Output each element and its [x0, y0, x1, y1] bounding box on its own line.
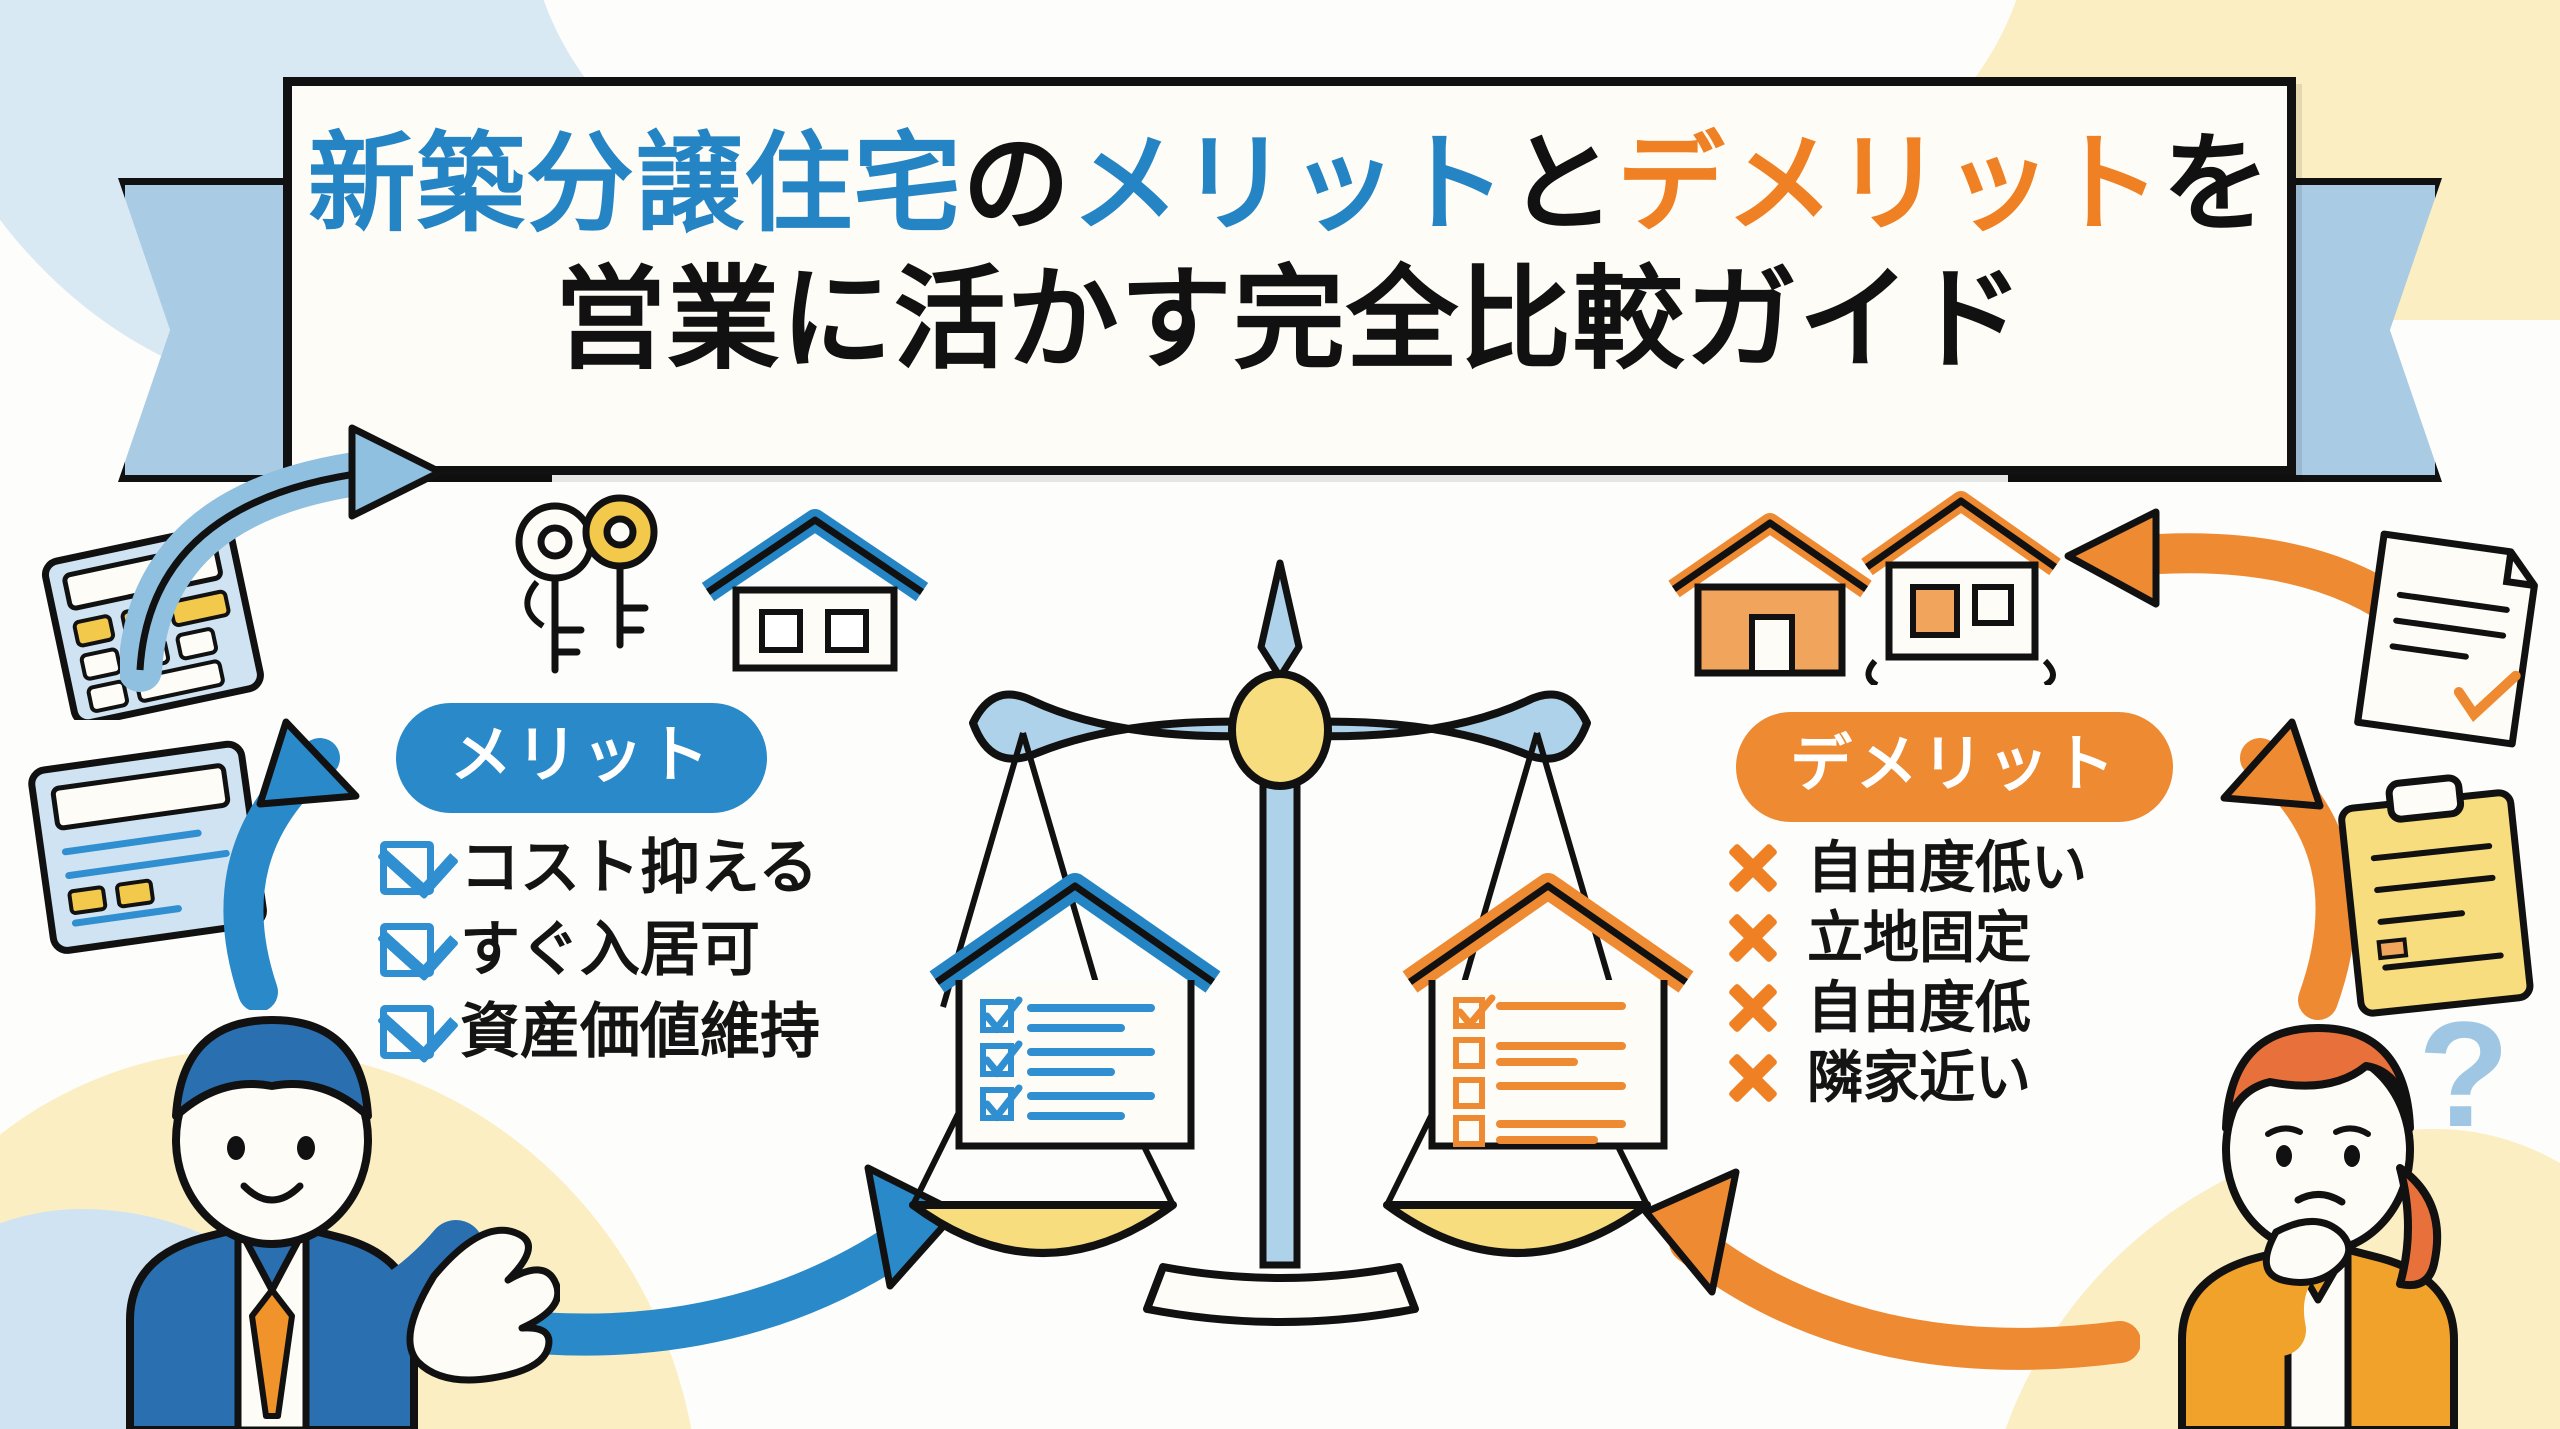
svg-text:?: ? — [2418, 1000, 2510, 1158]
cross-icon — [1725, 910, 1781, 966]
page-title-line-1: 新築分譲住宅のメリットとデメリットを — [292, 130, 2287, 238]
blue-house-checklist-icon — [925, 860, 1225, 1160]
demerit-item-label: 自由度低い — [1807, 840, 2087, 896]
demerit-item-3[interactable]: 自由度低 — [1725, 980, 2087, 1036]
title-seg-6: を — [2162, 123, 2271, 244]
demerit-item-2[interactable]: 立地固定 — [1725, 910, 2087, 966]
cross-icon — [1725, 980, 1781, 1036]
demerit-list: 自由度低い 立地固定 自由度低 隣家近い — [1725, 840, 2087, 1106]
cross-icon — [1725, 840, 1781, 896]
merit-item-label: すぐ入居可 — [460, 920, 760, 980]
merit-badge: メリット — [396, 703, 767, 813]
demerit-item-4[interactable]: 隣家近い — [1725, 1050, 2087, 1106]
orange-house-checklist-icon — [1398, 860, 1698, 1160]
title-banner: 新築分譲住宅のメリットとデメリットを 営業に活かす完全比較ガイド — [283, 77, 2296, 475]
salesman-character — [60, 990, 560, 1429]
infographic-canvas: 新築分譲住宅のメリットとデメリットを 営業に活かす完全比較ガイド — [0, 0, 2560, 1429]
merit-item-1[interactable]: コスト抑える — [380, 838, 820, 898]
check-icon — [380, 841, 434, 895]
demerit-item-label: 隣家近い — [1807, 1050, 2031, 1106]
title-seg-2: の — [962, 123, 1071, 244]
title-seg-4: と — [1508, 123, 1617, 244]
check-icon — [380, 923, 434, 977]
merit-item-2[interactable]: すぐ入居可 — [380, 920, 820, 980]
document-icon — [2348, 530, 2548, 750]
arrow-left-curve-orange-icon — [1560, 1150, 2140, 1380]
clipboard-icon — [2330, 770, 2540, 1020]
page-title-line-2: 営業に活かす完全比較ガイド — [292, 264, 2287, 376]
cross-icon — [1725, 1050, 1781, 1106]
title-seg-5: デメリット — [1617, 123, 2162, 244]
merit-item-label: コスト抑える — [460, 838, 818, 898]
title-seg-3: メリット — [1071, 123, 1507, 244]
question-mark-icon: ? — [2400, 1000, 2540, 1180]
arrow-up-right-light-blue-icon — [120, 420, 540, 710]
demerit-item-label: 立地固定 — [1807, 910, 2031, 966]
title-seg-1: 新築分譲住宅 — [308, 123, 962, 244]
demerit-item-1[interactable]: 自由度低い — [1725, 840, 2087, 896]
demerit-badge: デメリット — [1736, 712, 2173, 822]
demerit-item-label: 自由度低 — [1807, 980, 2031, 1036]
